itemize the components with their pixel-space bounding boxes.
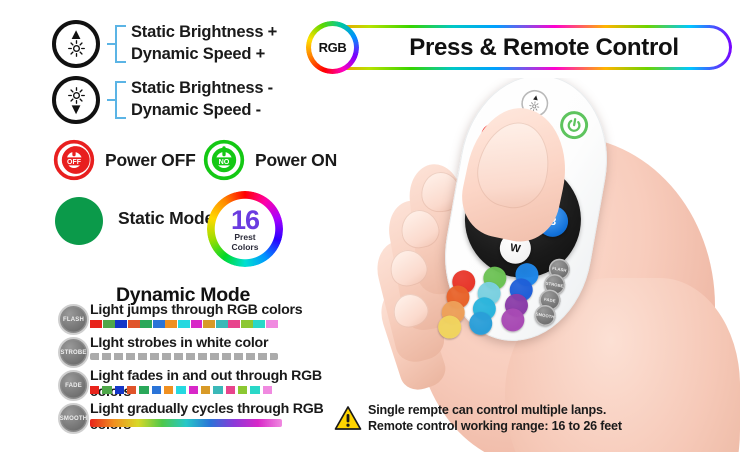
color-segment	[90, 386, 99, 394]
color-segment	[90, 320, 102, 328]
page-title: Press & Remote Control	[370, 25, 718, 70]
power-off-label: Power OFF	[105, 150, 196, 171]
color-segment	[102, 386, 111, 394]
warning-text: Single rempte can control multiple lanps…	[368, 402, 622, 434]
smooth-description: Light gradually cycles through RGB color…	[90, 401, 350, 433]
color-segment	[203, 320, 215, 328]
flash-button-label: FLASH	[63, 317, 84, 323]
dynamic-row-strobe: STROBE LIght strobes in white color	[0, 336, 350, 369]
color-segment	[253, 320, 265, 328]
hand-holding-remote-photo: ▲	[355, 78, 750, 452]
warning-note: Single rempte can control multiple lanps…	[334, 402, 622, 434]
dynamic-row-fade: FADE Light fades in and out through RGB …	[0, 369, 350, 402]
color-segment	[153, 320, 165, 328]
remote-mode-label: SMOOTH	[535, 311, 555, 319]
remote-mode-label: FLASH	[552, 266, 567, 273]
legend-line-2: Dynamic Speed +	[131, 44, 277, 66]
color-segment	[191, 320, 203, 328]
preset-count: 16	[231, 208, 259, 232]
brace-connector	[107, 81, 127, 119]
color-segment	[226, 386, 235, 394]
strobe-button-label: STROBE	[60, 350, 86, 356]
power-off-glyph-text: OFF	[67, 159, 81, 166]
legend-line-2: Dynamic Speed -	[131, 100, 273, 122]
legend-power-off: OFF Power OFF	[52, 138, 196, 182]
power-on-label: Power ON	[255, 150, 337, 171]
color-segment	[164, 386, 173, 394]
preset-caption-line-2: Colors	[232, 243, 259, 252]
color-segment	[103, 320, 115, 328]
preset-colors-badge: 16 Prest Colors	[207, 191, 283, 267]
brace-connector	[107, 25, 127, 63]
dynamic-row-flash: FLASH Light jumps through RGB colors	[0, 303, 350, 336]
color-segment	[115, 386, 124, 394]
brightness-down-icon: ▼	[52, 76, 100, 124]
power-off-icon: OFF	[52, 138, 96, 182]
color-segment	[266, 320, 278, 328]
dynamic-mode-list: FLASH Light jumps through RGB colors STR…	[0, 303, 350, 435]
color-segment	[238, 386, 247, 394]
color-segment	[216, 320, 228, 328]
fade-description: Light fades in and out through RGB color…	[90, 368, 350, 400]
static-mode-color-dot	[55, 197, 103, 245]
strobe-mode-button[interactable]: STROBE	[58, 337, 89, 368]
fade-button-label: FADE	[65, 383, 82, 389]
sun-icon	[67, 39, 86, 58]
legend-text-brightness-up: Static Brightness + Dynamic Speed +	[131, 22, 277, 66]
legend-line-1: Static Brightness +	[131, 22, 277, 44]
product-infographic: ▲ Static Brightness + Dy	[0, 0, 750, 452]
legend-line-1: Static Brightness -	[131, 78, 273, 100]
color-segment	[127, 386, 136, 394]
chevron-up-icon: ▲	[69, 30, 84, 39]
rgb-badge: RGB	[306, 21, 359, 74]
flash-mode-button[interactable]: FLASH	[58, 304, 89, 335]
color-segment	[178, 320, 190, 328]
color-segment	[152, 386, 161, 394]
color-segment	[140, 320, 152, 328]
color-segment	[165, 320, 177, 328]
remote-power-on-button[interactable]	[558, 109, 590, 141]
brightness-up-icon: ▲	[52, 20, 100, 68]
flash-color-bar	[90, 320, 278, 328]
color-segment	[241, 320, 253, 328]
smooth-mode-button[interactable]: SMOOTH	[58, 403, 89, 434]
remote-mode-label: STROBE	[545, 281, 564, 289]
static-mode-legend: Static Mode 16 Prest Colors	[0, 193, 350, 255]
chevron-down-icon: ▼	[69, 105, 84, 114]
legend-row-brightness-down: ▼ Static Brightness - Dynamic Speed -	[52, 72, 322, 128]
color-segment	[128, 320, 140, 328]
color-segment	[189, 386, 198, 394]
power-legend: OFF Power OFF NO Power ON	[0, 134, 350, 186]
legend-row-brightness-up: ▲ Static Brightness + Dy	[52, 16, 322, 72]
remote-mode-label: FADE	[544, 297, 556, 304]
fade-mode-button[interactable]: FADE	[58, 370, 89, 401]
smooth-color-bar	[90, 419, 282, 427]
legend-text-brightness-down: Static Brightness - Dynamic Speed -	[131, 78, 273, 122]
warning-triangle-icon	[334, 405, 362, 431]
color-segment	[228, 320, 240, 328]
legend-power-on: NO Power ON	[202, 138, 337, 182]
warning-line-1: Single rempte can control multiple lanps…	[368, 402, 622, 418]
color-segment	[115, 320, 127, 328]
strobe-color-bar	[90, 353, 278, 360]
rgb-badge-label: RGB	[311, 26, 354, 69]
warning-line-2: Remote control working range: 16 to 26 f…	[368, 418, 622, 434]
color-segment	[201, 386, 210, 394]
brightness-legend: ▲ Static Brightness + Dy	[52, 16, 322, 128]
power-on-icon: NO	[202, 138, 246, 182]
color-segment	[213, 386, 222, 394]
color-segment	[250, 386, 259, 394]
flash-description: Light jumps through RGB colors	[90, 302, 302, 318]
strobe-description: LIght strobes in white color	[90, 335, 268, 351]
color-segment	[263, 386, 272, 394]
power-icon	[565, 116, 584, 135]
power-on-glyph-text: NO	[219, 158, 230, 166]
preset-caption: Prest Colors	[232, 233, 259, 252]
fade-color-bar	[90, 386, 272, 394]
color-segment	[139, 386, 148, 394]
color-segment	[176, 386, 185, 394]
smooth-button-label: SMOOTH	[60, 416, 88, 422]
dynamic-row-smooth: SMOOTH Light gradually cycles through RG…	[0, 402, 350, 435]
static-mode-label: Static Mode	[118, 208, 214, 229]
header-banner: Press & Remote Control RGB	[310, 25, 732, 70]
